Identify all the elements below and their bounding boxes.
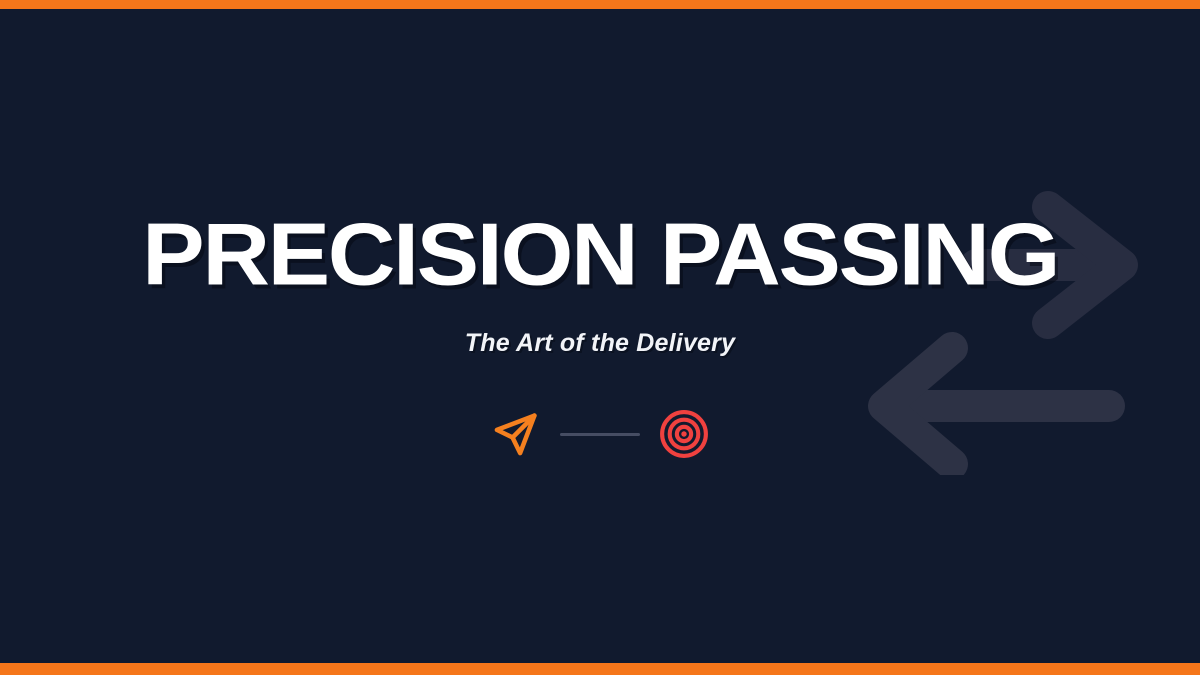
target-icon-cell — [656, 406, 712, 462]
content-stack: PRECISION PASSING The Art of the Deliver… — [0, 0, 1200, 675]
icon-row — [488, 406, 712, 462]
top-accent-bar — [0, 0, 1200, 9]
page-subtitle: The Art of the Delivery — [465, 329, 735, 358]
send-paper-plane-icon — [490, 408, 542, 460]
connector-line — [560, 433, 640, 436]
page-title: PRECISION PASSING — [142, 212, 1058, 298]
title-slide: PRECISION PASSING The Art of the Deliver… — [0, 0, 1200, 675]
send-icon-cell — [488, 406, 544, 462]
bottom-accent-bar — [0, 663, 1200, 675]
target-bullseye-icon — [658, 408, 710, 460]
